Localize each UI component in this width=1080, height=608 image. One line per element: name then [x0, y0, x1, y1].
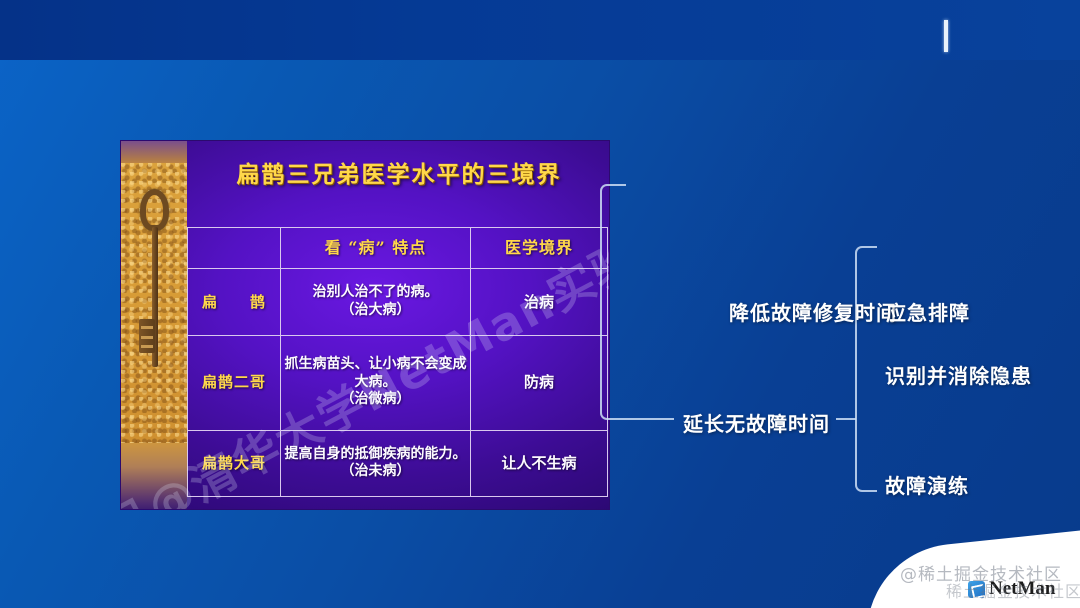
inner-connector-line: [836, 418, 856, 420]
root-connector-line: [626, 418, 674, 420]
table-row: 扁鹊二哥 抓生病苗头、让小病不会变成大病。 （治微病） 防病: [188, 335, 608, 430]
row-feature-sub: （治未病）: [284, 463, 467, 481]
top-band: [0, 0, 1080, 60]
netman-mark-icon: [968, 581, 985, 598]
tree-node-extend-uptime: 延长无故障时间: [683, 408, 830, 437]
row-realm: 让人不生病: [471, 430, 608, 496]
reliability-tree: 降低故障修复时间 应急排障 延长无故障时间 识别并消除隐患 故障演练: [600, 150, 1080, 530]
outer-bracket: [600, 184, 626, 420]
inner-bracket: [855, 246, 877, 492]
row-realm: 治病: [471, 269, 608, 335]
tree-node-identify-eliminate-risks: 识别并消除隐患: [885, 360, 1032, 389]
row-feature: 提高自身的抵御疾病的能力。 （治未病）: [281, 430, 471, 496]
row-name: 扁鹊二哥: [188, 335, 281, 430]
three-realms-table: 看 “病” 特点 医学境界 扁 鹊 治别人治不了的病。 （治大病） 治病 扁鹊二…: [187, 227, 608, 497]
slide-canvas: 扁鹊三兄弟医学水平的三境界 看 “病” 特点 医学境界 扁 鹊 治别人治不了的病…: [0, 0, 1080, 608]
row-feature-sub: （治微病）: [284, 391, 467, 409]
row-realm: 防病: [471, 335, 608, 430]
netman-logo: NetMan: [968, 578, 1055, 600]
row-feature: 治别人治不了的病。 （治大病）: [281, 269, 471, 335]
key-icon: [140, 189, 169, 231]
card-title: 扁鹊三兄弟医学水平的三境界: [187, 155, 610, 189]
header-cell-realm: 医学境界: [471, 228, 608, 269]
text-cursor-indicator: [944, 20, 948, 52]
brotherhood-table-card: 扁鹊三兄弟医学水平的三境界 看 “病” 特点 医学境界 扁 鹊 治别人治不了的病…: [120, 140, 610, 510]
header-cell-feature: 看 “病” 特点: [281, 228, 471, 269]
row-name: 扁 鹊: [188, 269, 281, 335]
row-feature-main: 抓生病苗头、让小病不会变成大病。: [284, 356, 467, 391]
row-name: 扁鹊大哥: [188, 430, 281, 496]
netman-logo-text: NetMan: [989, 578, 1055, 600]
tree-node-failure-drill: 故障演练: [885, 470, 969, 499]
key-bit: [139, 319, 155, 353]
row-feature-sub: （治大病）: [284, 302, 467, 320]
row-feature: 抓生病苗头、让小病不会变成大病。 （治微病）: [281, 335, 471, 430]
header-cell-blank: [188, 228, 281, 269]
tree-node-emergency-troubleshooting: 应急排障: [886, 297, 970, 326]
row-feature-main: 提高自身的抵御疾病的能力。: [284, 446, 467, 464]
row-feature-main: 治别人治不了的病。: [284, 284, 467, 302]
table-header-row: 看 “病” 特点 医学境界: [188, 228, 608, 269]
table-row: 扁 鹊 治别人治不了的病。 （治大病） 治病: [188, 269, 608, 335]
tree-node-reduce-repair-time: 降低故障修复时间: [729, 297, 897, 326]
table-row: 扁鹊大哥 提高自身的抵御疾病的能力。 （治未病） 让人不生病: [188, 430, 608, 496]
key-image-strip: [121, 141, 187, 510]
